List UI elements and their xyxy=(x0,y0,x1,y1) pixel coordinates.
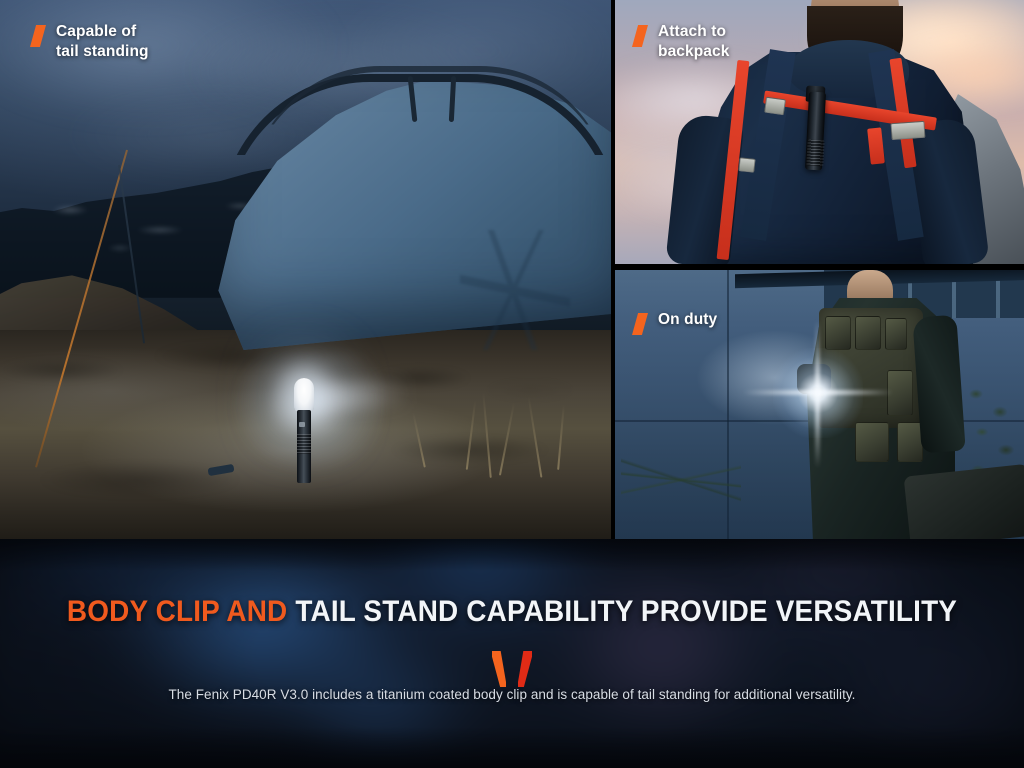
flashlight-switch xyxy=(299,422,305,427)
flashlight-diffuser xyxy=(294,378,314,412)
product-feature-page: Capable of tail standing xyxy=(0,0,1024,768)
headline-accent: BODY CLIP AND xyxy=(67,595,295,628)
branch-shadow xyxy=(460,230,570,350)
photo-attach-to-backpack: Attach to backpack xyxy=(615,0,1024,264)
flashlight-knurling xyxy=(297,434,311,454)
callout-label: Attach to backpack xyxy=(658,22,729,63)
weeds xyxy=(621,419,741,539)
chevron-stroke-right xyxy=(518,651,532,687)
photo-on-duty: On duty xyxy=(615,270,1024,539)
officer-arm xyxy=(912,315,965,454)
banner-content: BODY CLIP AND TAIL STAND CAPABILITY PROV… xyxy=(0,539,1024,768)
orange-chevron-down-icon xyxy=(484,651,540,687)
headline-rest: TAIL STAND CAPABILITY PROVIDE VERSATILIT… xyxy=(295,595,957,628)
banner-headline: BODY CLIP AND TAIL STAND CAPABILITY PROV… xyxy=(36,597,988,627)
orange-slash-icon xyxy=(632,313,648,335)
magazine-pouch xyxy=(825,316,851,350)
strap-buckle xyxy=(764,97,786,116)
flashlight-knurling xyxy=(806,140,824,167)
banner-caption: The Fenix PD40R V3.0 includes a titanium… xyxy=(0,687,1024,702)
callout-label: Capable of tail standing xyxy=(56,22,149,63)
magazine-pouch xyxy=(885,318,907,350)
chevron-stroke-left xyxy=(492,651,506,687)
campsite-scene xyxy=(0,0,611,539)
magazine-pouch xyxy=(855,316,881,350)
strap-buckle xyxy=(738,157,755,173)
photo-grid: Capable of tail standing xyxy=(0,0,1024,539)
strap-buckle xyxy=(890,121,925,140)
callout-on-duty: On duty xyxy=(632,310,717,335)
orange-slash-icon xyxy=(30,25,46,47)
orange-slash-icon xyxy=(632,25,648,47)
flashlight-beam-flare xyxy=(773,348,863,438)
flashlight-tail-standing xyxy=(293,378,315,483)
callout-attach-to-backpack: Attach to backpack xyxy=(632,22,729,63)
equipment-bag xyxy=(904,464,1024,539)
tent xyxy=(180,60,611,350)
photo-tail-standing: Capable of tail standing xyxy=(0,0,611,539)
callout-label: On duty xyxy=(658,310,717,330)
bottom-banner: BODY CLIP AND TAIL STAND CAPABILITY PROV… xyxy=(0,539,1024,768)
callout-tail-standing: Capable of tail standing xyxy=(30,22,149,63)
